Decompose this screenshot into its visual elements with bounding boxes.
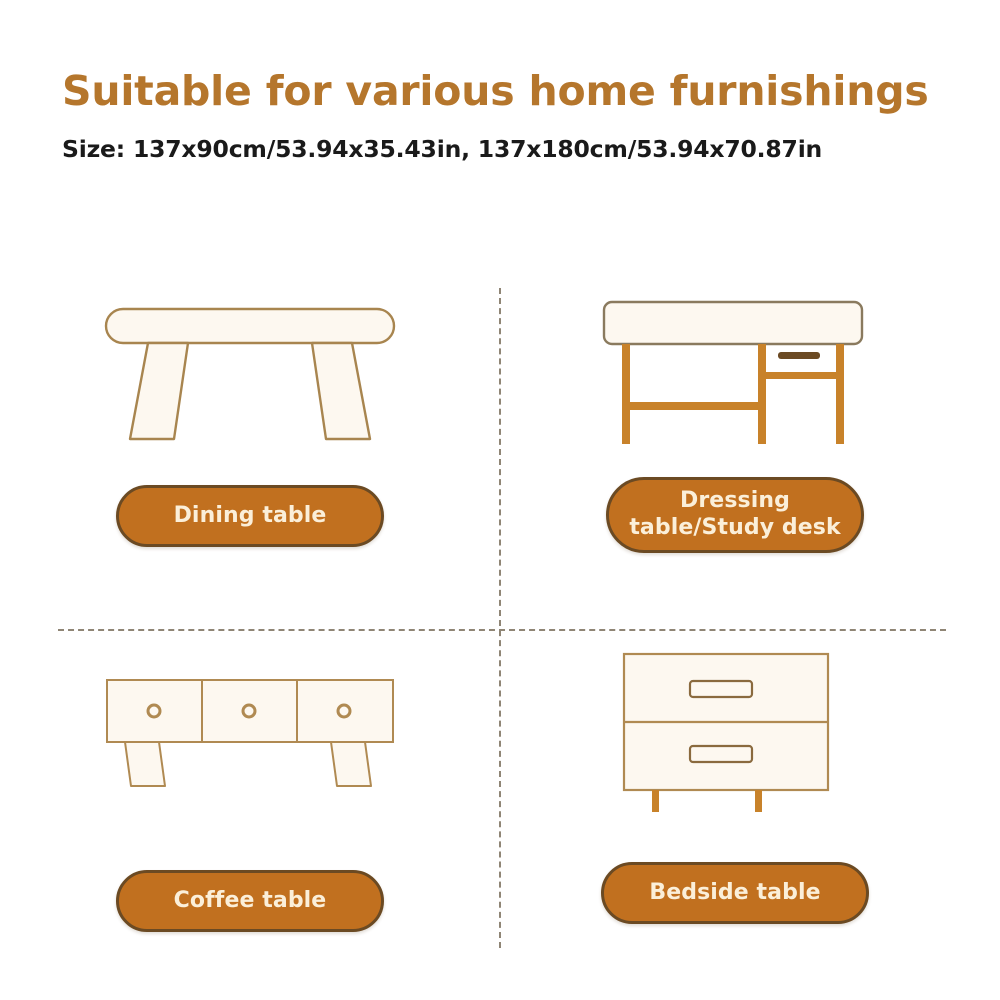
- coffee-table-icon: [103, 674, 398, 792]
- dashed-vertical-divider: [499, 288, 501, 948]
- cell-coffee-table: Coffee table: [20, 645, 480, 932]
- bedside-table-illustration: [505, 645, 965, 820]
- label-coffee-table[interactable]: Coffee table: [116, 870, 384, 932]
- bedside-table-label-row: Bedside table: [505, 862, 965, 924]
- dining-table-label-row: Dining table: [20, 485, 480, 547]
- size-subtitle: Size: 137x90cm/53.94x35.43in, 137x180cm/…: [62, 135, 962, 163]
- cell-bedside-table: Bedside table: [505, 645, 965, 924]
- coffee-table-illustration: [20, 645, 480, 820]
- coffee-table-label-row: Coffee table: [20, 870, 480, 932]
- furniture-suitability-infographic: Suitable for various home furnishings Si…: [0, 0, 1000, 1000]
- label-bedside-table[interactable]: Bedside table: [601, 862, 869, 924]
- dining-table-icon: [100, 301, 400, 451]
- dashed-horizontal-divider: [58, 629, 946, 631]
- label-dressing-table[interactable]: Dressing table/Study desk: [606, 477, 864, 553]
- dressing-table-icon: [600, 298, 870, 453]
- cell-dining-table: Dining table: [20, 288, 480, 547]
- dining-table-illustration: [20, 288, 480, 463]
- dressing-table-illustration: [505, 288, 965, 463]
- bedside-table-icon: [620, 648, 850, 818]
- dressing-table-label-row: Dressing table/Study desk: [505, 477, 965, 553]
- page-title: Suitable for various home furnishings: [62, 70, 962, 113]
- label-dining-table[interactable]: Dining table: [116, 485, 384, 547]
- cell-dressing-table: Dressing table/Study desk: [505, 288, 965, 553]
- header: Suitable for various home furnishings Si…: [62, 70, 962, 163]
